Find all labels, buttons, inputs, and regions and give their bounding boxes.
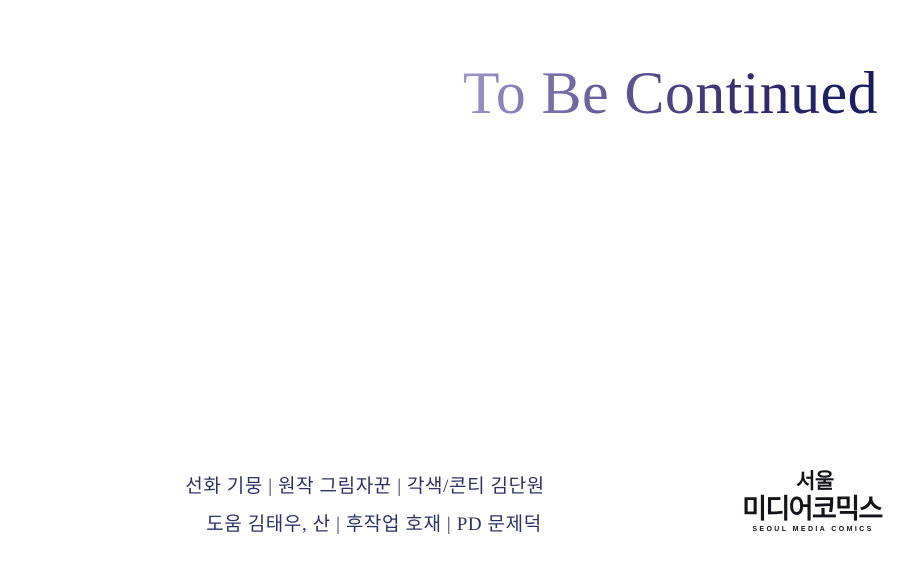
- credit-line-1: 선화 기뭉 | 원작 그림자꾼 | 각색/콘티 김단원: [0, 468, 730, 506]
- publisher-logo-top-text: 서울: [730, 470, 900, 494]
- comic-endcard-page: To Be Continued 선화 기뭉 | 원작 그림자꾼 | 각색/콘티 …: [0, 0, 900, 573]
- page-title: To Be Continued: [463, 62, 878, 125]
- publisher-logo-main-text: 미디어코믹스: [724, 494, 900, 524]
- publisher-logo-subtitle: SEOUL MEDIA COMICS: [726, 524, 900, 535]
- staff-credits: 선화 기뭉 | 원작 그림자꾼 | 각색/콘티 김단원 도움 김태우, 산 | …: [0, 468, 730, 544]
- credit-line-2: 도움 김태우, 산 | 후작업 호재 | PD 문제덕: [0, 506, 730, 544]
- publisher-logo: 서울 미디어코믹스 SEOUL MEDIA COMICS: [724, 470, 900, 535]
- to-be-continued-title: To Be Continued: [0, 62, 900, 142]
